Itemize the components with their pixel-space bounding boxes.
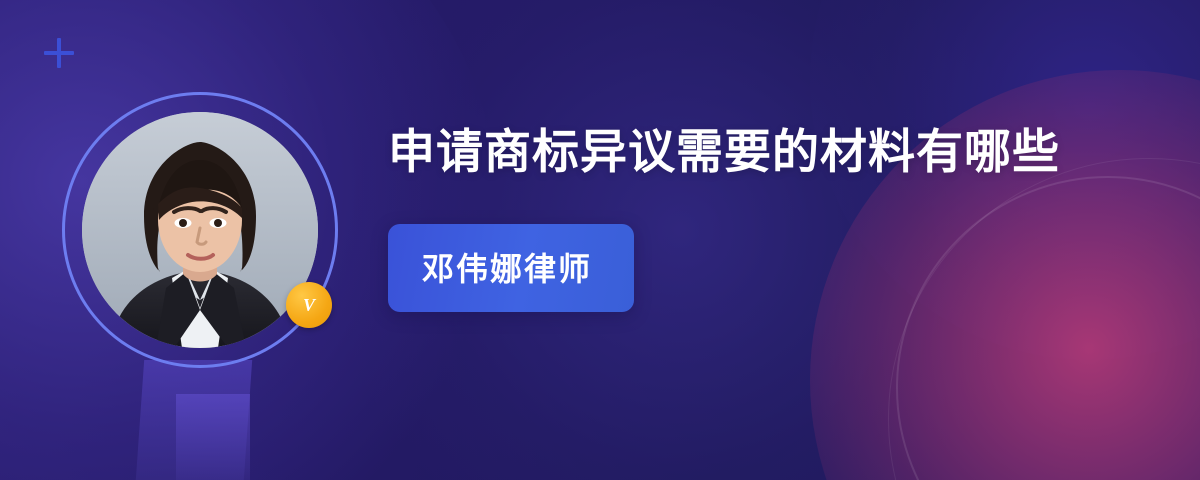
page-title: 申请商标异议需要的材料有哪些 (388, 118, 1108, 186)
avatar-ring (62, 92, 338, 368)
verified-badge-icon: V (286, 282, 332, 328)
avatar: V (62, 92, 338, 368)
promo-banner: V 申请商标异议需要的材料有哪些 邓伟娜律师 (0, 0, 1200, 480)
lawyer-name-chip[interactable]: 邓伟娜律师 (388, 224, 634, 312)
text-block: 申请商标异议需要的材料有哪些 邓伟娜律师 (388, 118, 1108, 312)
pedestal-shape-front (176, 394, 250, 480)
plus-icon (44, 38, 74, 68)
svg-text:V: V (303, 295, 317, 315)
